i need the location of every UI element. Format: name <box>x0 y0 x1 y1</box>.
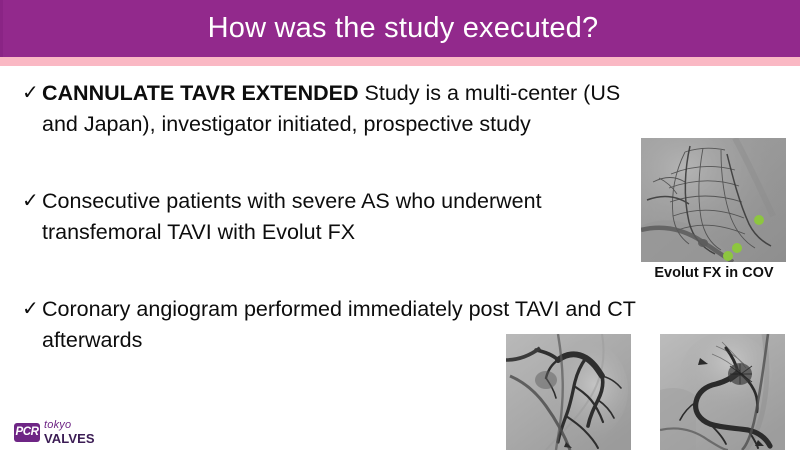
pcr-tokyo-valves-logo: PCR tokyo VALVES <box>14 419 110 445</box>
logo-tokyo-text: tokyo <box>44 420 95 431</box>
check-icon: ✓ <box>22 78 42 109</box>
marker-dot <box>754 215 764 225</box>
evolut-fx-caption: Evolut FX in COV <box>636 265 792 281</box>
bullet-item-1: ✓ CANNULATE TAVR EXTENDED Study is a mul… <box>22 78 662 140</box>
bullet-item-2: ✓ Consecutive patients with severe AS wh… <box>22 186 632 248</box>
marker-dot <box>723 251 733 261</box>
title-underline-accent <box>0 57 800 66</box>
slide-title-bar: How was the study executed? <box>0 0 800 57</box>
bullet-1-bold-lead: CANNULATE TAVR EXTENDED <box>42 81 359 105</box>
evolut-fx-fluoroscopy-image <box>641 138 786 262</box>
marker-dot <box>732 243 742 253</box>
pcr-logo-mark: PCR <box>14 423 40 442</box>
logo-wordmark: tokyo VALVES <box>44 420 95 445</box>
check-icon: ✓ <box>22 186 42 217</box>
check-icon: ✓ <box>22 294 42 325</box>
logo-valves-text: VALVES <box>44 432 95 445</box>
bullet-1-text: CANNULATE TAVR EXTENDED Study is a multi… <box>42 78 662 140</box>
coronary-angiogram-right <box>660 334 785 450</box>
bullet-2-text: Consecutive patients with severe AS who … <box>42 186 632 248</box>
coronary-angiogram-left <box>506 334 631 450</box>
page-title: How was the study executed? <box>3 0 800 57</box>
